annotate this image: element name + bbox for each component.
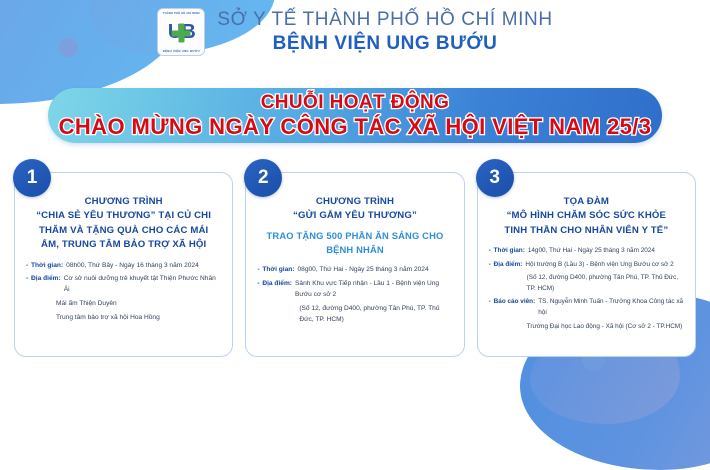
- card-subtitle-2: TRAO TẶNG 500 PHẦN ĂN SÁNG CHO BỆNH NHÂN: [253, 229, 456, 257]
- detail-label: Địa điểm:: [262, 279, 292, 290]
- detail-label: Thời gian:: [494, 246, 525, 257]
- detail-value: 08g00, Thứ Hai - Ngày 25 tháng 3 năm 202…: [298, 265, 453, 276]
- card-detail-row: - Thời gian: 08h00, Thứ Bảy - Ngày 16 th…: [26, 261, 221, 272]
- detail-label: Địa điểm:: [494, 260, 523, 271]
- detail-continuation: Trường Đại học Lao động - Xã hội (Cơ sở …: [489, 322, 684, 333]
- detail-label: Báo cáo viên:: [494, 297, 536, 308]
- card-title-1: CHƯƠNG TRÌNH “CHIA SẺ YÊU THƯƠNG” TẠI CỦ…: [22, 195, 225, 253]
- activity-card-1[interactable]: 1 CHƯƠNG TRÌNH “CHIA SẺ YÊU THƯƠNG” TẠI …: [14, 172, 233, 357]
- card-title-line: THĂM VÀ TẶNG QUÀ CHO CÁC MÁI: [22, 224, 225, 238]
- logo-bottom-text: BỆNH VIỆN UNG BƯỚU: [158, 49, 204, 53]
- hospital-title: BỆNH VIỆN UNG BƯỚU: [217, 32, 552, 57]
- card-title-line: TINH THẦN CHO NHÂN VIÊN Y TẾ”: [485, 224, 688, 238]
- detail-label: Địa điểm:: [31, 274, 61, 285]
- card-title-line: “MÔ HÌNH CHĂM SÓC SỨC KHỎE: [485, 209, 688, 223]
- card-title-3: TỌA ĐÀM “MÔ HÌNH CHĂM SÓC SỨC KHỎE TINH …: [485, 195, 688, 238]
- logo-top-text: THÀNH PHỐ HỒ CHÍ MINH: [158, 12, 204, 16]
- card-title-line: ẤM, TRUNG TÂM BẢO TRỢ XÃ HỘI: [22, 238, 225, 252]
- activity-cards: 1 CHƯƠNG TRÌNH “CHIA SẺ YÊU THƯƠNG” TẠI …: [0, 172, 710, 357]
- card-body-3: - Thời gian: 14g00, Thứ Hai - Ngày 25 th…: [485, 246, 688, 332]
- card-title-line: “CHIA SẺ YÊU THƯƠNG” TẠI CỦ CHI: [22, 209, 225, 223]
- detail-label: Thời gian:: [31, 261, 63, 272]
- card-detail-row: - Báo cáo viên: TS. Nguyễn Minh Tuấn - T…: [489, 297, 684, 318]
- card-detail-row: - Thời gian: 08g00, Thứ Hai - Ngày 25 th…: [257, 265, 452, 276]
- card-detail-row: - Thời gian: 14g00, Thứ Hai - Ngày 25 th…: [489, 246, 684, 257]
- banner-line-2: CHÀO MỪNG NGÀY CÔNG TÁC XÃ HỘI VIỆT NAM …: [59, 114, 652, 140]
- card-title-line: TỌA ĐÀM: [485, 195, 688, 209]
- detail-value: Cơ sở nuôi dưỡng trẻ khuyết tật Thiện Ph…: [64, 274, 222, 296]
- detail-value: Hội trường B (Lầu 3) - Bệnh viện Ung Bướ…: [525, 260, 684, 271]
- card-title-2: CHƯƠNG TRÌNH “GỬI GẮM YÊU THƯƠNG”: [253, 195, 456, 224]
- card-number-badge-1: 1: [13, 159, 51, 197]
- department-title: SỞ Y TẾ THÀNH PHỐ HỒ CHÍ MINH: [217, 8, 552, 32]
- card-title-line: “GỬI GẮM YÊU THƯƠNG”: [253, 209, 456, 223]
- detail-value: TS. Nguyễn Minh Tuấn - Trưởng Khoa Công …: [538, 297, 684, 318]
- medical-cross-icon: [172, 24, 191, 43]
- detail-continuation: Mái ấm Thiện Duyên: [26, 299, 221, 310]
- card-title-line: CHƯƠNG TRÌNH: [22, 195, 225, 209]
- detail-continuation: Trung tâm bảo trợ xã hội Hoa Hồng: [26, 313, 221, 324]
- card-title-line: CHƯƠNG TRÌNH: [253, 195, 456, 209]
- card-number-badge-2: 2: [244, 159, 282, 197]
- main-banner: CHUỖI HOẠT ĐỘNG CHÀO MỪNG NGÀY CÔNG TÁC …: [48, 88, 662, 143]
- card-number-badge-3: 3: [476, 159, 514, 197]
- banner-line-1: CHUỖI HOẠT ĐỘNG: [261, 92, 450, 114]
- card-detail-row: - Địa điểm: Cơ sở nuôi dưỡng trẻ khuyết …: [26, 274, 221, 296]
- card-detail-row: - Địa điểm: Sảnh Khu vực Tiếp nhận - Lầu…: [257, 279, 452, 301]
- detail-continuation: (Số 12, đường D400, phường Tân Phú, TP. …: [257, 304, 452, 326]
- card-body-2: - Thời gian: 08g00, Thứ Hai - Ngày 25 th…: [253, 265, 456, 325]
- activity-card-2[interactable]: 2 CHƯƠNG TRÌNH “GỬI GẮM YÊU THƯƠNG” TRAO…: [245, 172, 464, 357]
- card-body-1: - Thời gian: 08h00, Thứ Bảy - Ngày 16 th…: [22, 261, 225, 324]
- detail-label: Thời gian:: [262, 265, 294, 276]
- header-text-block: SỞ Y TẾ THÀNH PHỐ HỒ CHÍ MINH BỆNH VIỆN …: [217, 8, 552, 56]
- detail-value: 14g00, Thứ Hai - Ngày 25 tháng 3 năm 202…: [528, 246, 684, 257]
- detail-continuation: (Số 12, đường D400, phường Tân Phú, TP. …: [489, 273, 684, 294]
- card-detail-row: - Địa điểm: Hội trường B (Lầu 3) - Bệnh …: [489, 260, 684, 271]
- detail-value: Sảnh Khu vực Tiếp nhận - Lầu 1 - Bệnh vi…: [295, 279, 453, 301]
- detail-value: 08h00, Thứ Bảy - Ngày 16 tháng 3 năm 202…: [66, 261, 221, 272]
- activity-card-3[interactable]: 3 TỌA ĐÀM “MÔ HÌNH CHĂM SÓC SỨC KHỎE TIN…: [477, 172, 696, 357]
- hospital-logo: THÀNH PHỐ HỒ CHÍ MINH UB BỆNH VIỆN UNG B…: [157, 8, 205, 56]
- page-header: THÀNH PHỐ HỒ CHÍ MINH UB BỆNH VIỆN UNG B…: [0, 8, 710, 56]
